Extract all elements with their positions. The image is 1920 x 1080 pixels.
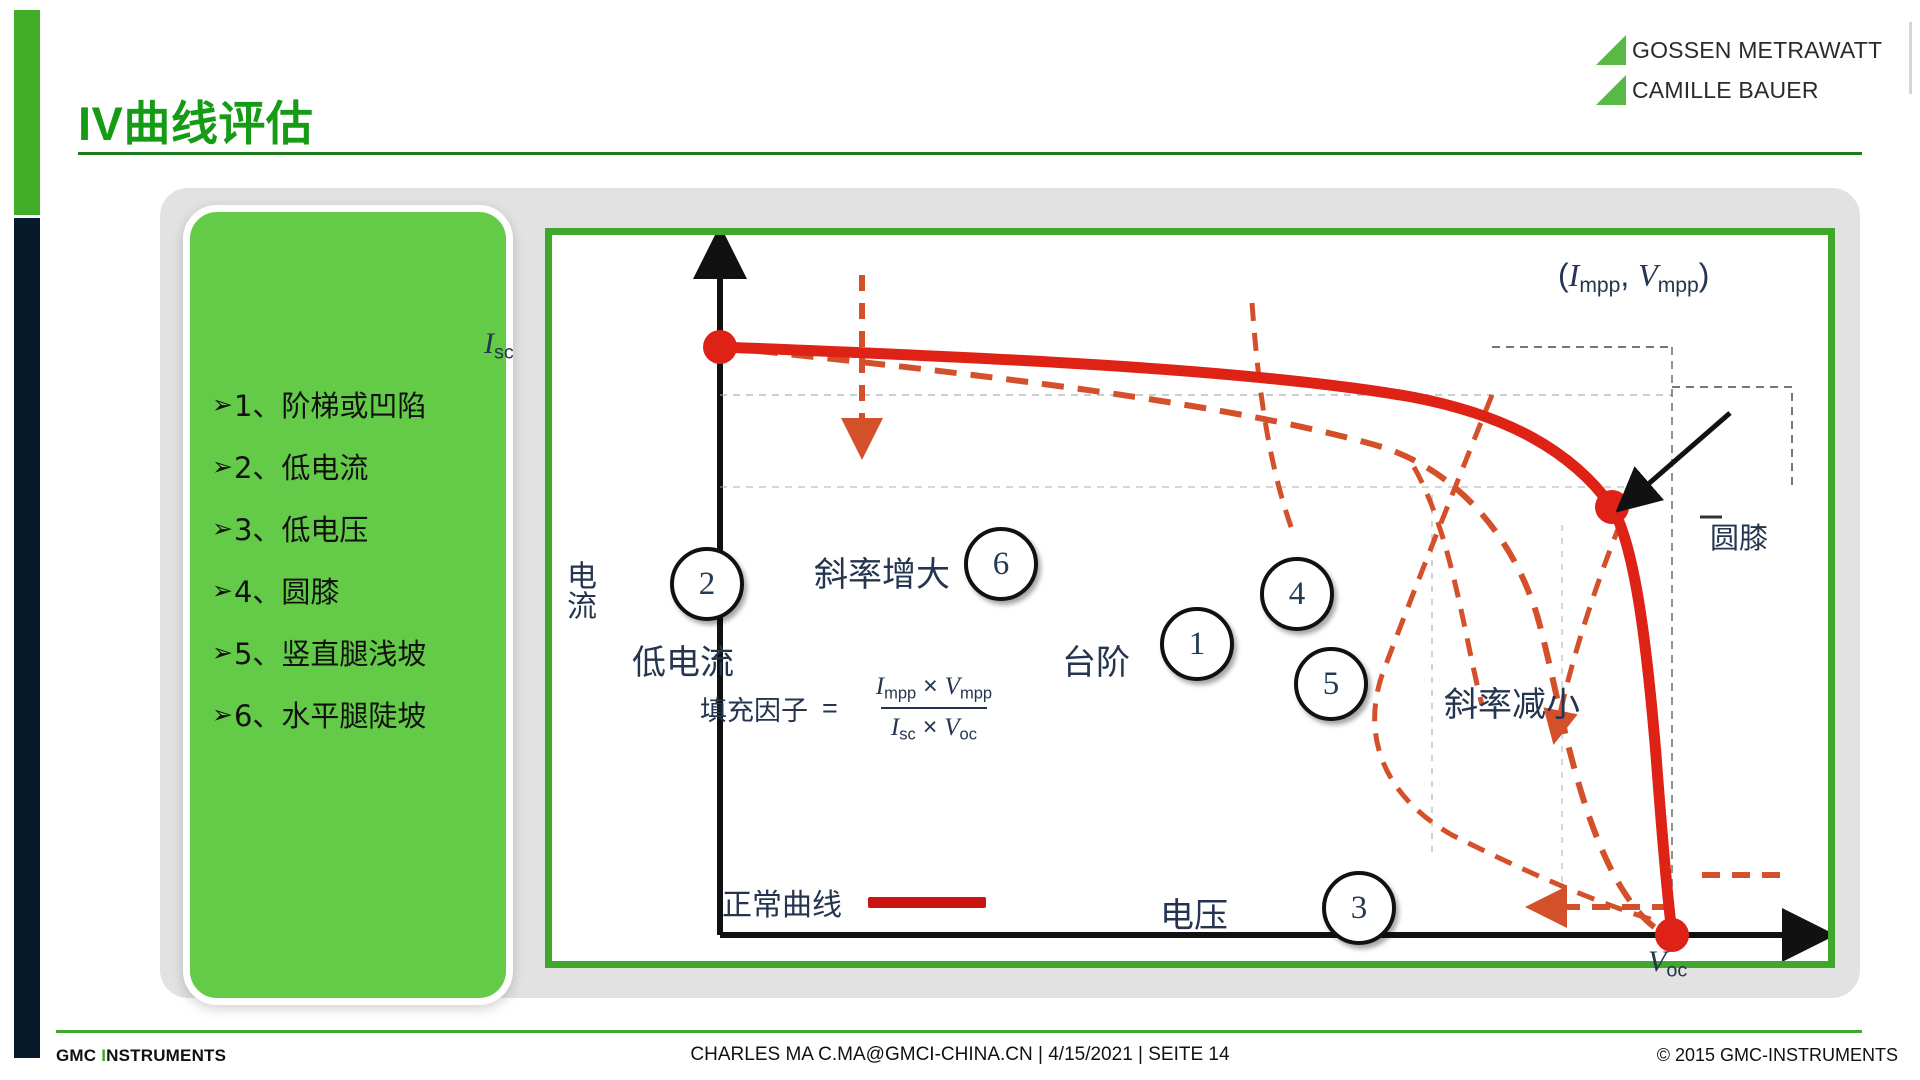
fault-list-card: ➢ 1、阶梯或凹陷 ➢ 2、低电流 ➢ 3、低电压 ➢ 4、圆膝 ➢ 5、竖直腿…	[183, 205, 513, 1005]
list-item: ➢ 2、低电流	[212, 454, 512, 483]
isc-label: Isc	[484, 327, 514, 365]
formula-equals: =	[822, 693, 838, 724]
arrow-bullet-icon: ➢	[212, 578, 233, 604]
footer-divider	[56, 1030, 1862, 1033]
brand-logos: GOSSEN METRAWATT CAMILLE BAUER	[1596, 30, 1896, 110]
x-axis-label: 电压	[1160, 888, 1228, 937]
footer-meta: CHARLES MA C.MA@GMCI-CHINA.CN | 4/15/202…	[690, 1044, 1229, 1066]
marker-5[interactable]: 5	[1294, 647, 1368, 721]
mpp-point	[1595, 490, 1629, 524]
list-item-label: 3、低电压	[234, 516, 368, 545]
logo-label: GOSSEN METRAWATT	[1632, 37, 1882, 64]
legend-label: 正常曲线	[722, 880, 842, 924]
marker-1[interactable]: 1	[1160, 607, 1234, 681]
arrow-bullet-icon: ➢	[212, 392, 233, 418]
marker-2[interactable]: 2	[670, 547, 744, 621]
list-item-label: 6、水平腿陡坡	[234, 702, 426, 731]
triangle-icon	[1596, 75, 1626, 105]
step-label: 台阶	[1062, 635, 1130, 684]
list-item: ➢ 6、水平腿陡坡	[212, 702, 512, 731]
list-item: ➢ 1、阶梯或凹陷	[212, 392, 512, 421]
fill-factor-formula: 填充因子 = Impp × Vmpp Isc × Voc	[700, 672, 1002, 744]
formula-numerator: Impp × Vmpp	[866, 672, 1002, 707]
isc-point	[703, 330, 737, 364]
fault-list: ➢ 1、阶梯或凹陷 ➢ 2、低电流 ➢ 3、低电压 ➢ 4、圆膝 ➢ 5、竖直腿…	[212, 392, 512, 764]
iv-curve-graphic	[552, 235, 1828, 961]
accent-bar-green	[14, 10, 40, 215]
y-axis-label: 电流	[556, 560, 600, 620]
arrow-bullet-icon: ➢	[212, 454, 233, 480]
list-item-label: 1、阶梯或凹陷	[234, 392, 426, 421]
list-item-label: 2、低电流	[234, 454, 368, 483]
footer-brand: GMC INSTRUMENTS	[56, 1046, 226, 1066]
accent-bar-navy	[14, 218, 40, 1058]
formula-lhs: 填充因子	[700, 689, 808, 728]
page-title: IV曲线评估	[78, 85, 313, 154]
mpp-label: (Impp, Vmpp)	[1558, 257, 1709, 298]
list-item: ➢ 4、圆膝	[212, 578, 512, 607]
formula-denominator: Isc × Voc	[881, 707, 987, 745]
logo-divider	[1909, 22, 1912, 94]
list-item: ➢ 5、竖直腿浅坡	[212, 640, 512, 669]
legend-swatch	[868, 897, 986, 908]
voc-label: Voc	[1648, 945, 1687, 983]
chart-legend: 正常曲线	[722, 880, 986, 924]
formula-fraction: Impp × Vmpp Isc × Voc	[866, 672, 1002, 744]
arrow-bullet-icon: ➢	[212, 702, 233, 728]
round-knee-label: 圆膝	[1710, 515, 1768, 557]
logo-camille-bauer: CAMILLE BAUER	[1596, 70, 1896, 110]
title-divider	[78, 152, 1862, 155]
list-item-label: 4、圆膝	[234, 578, 339, 607]
marker-4[interactable]: 4	[1260, 557, 1334, 631]
mpp-callout-arrow	[1638, 413, 1730, 493]
marker-6[interactable]: 6	[964, 527, 1038, 601]
triangle-icon	[1596, 35, 1626, 65]
slope-increase-label: 斜率增大	[814, 547, 950, 596]
footer-copyright: © 2015 GMC-INSTRUMENTS	[1657, 1045, 1898, 1066]
slope-decrease-label: 斜率减小	[1444, 677, 1580, 726]
list-item-label: 5、竖直腿浅坡	[234, 640, 426, 669]
logo-label: CAMILLE BAUER	[1632, 77, 1819, 104]
marker-3[interactable]: 3	[1322, 871, 1396, 945]
iv-curve-chart: Isc Voc (Impp, Vmpp) 圆膝 低电流 斜率增大 台阶 斜率减小…	[545, 228, 1835, 968]
arrow-bullet-icon: ➢	[212, 516, 233, 542]
slide: IV曲线评估 GOSSEN METRAWATT CAMILLE BAUER ➢ …	[0, 0, 1920, 1080]
list-item: ➢ 3、低电压	[212, 516, 512, 545]
logo-gossen-metrawatt: GOSSEN METRAWATT	[1596, 30, 1896, 70]
arrow-bullet-icon: ➢	[212, 640, 233, 666]
